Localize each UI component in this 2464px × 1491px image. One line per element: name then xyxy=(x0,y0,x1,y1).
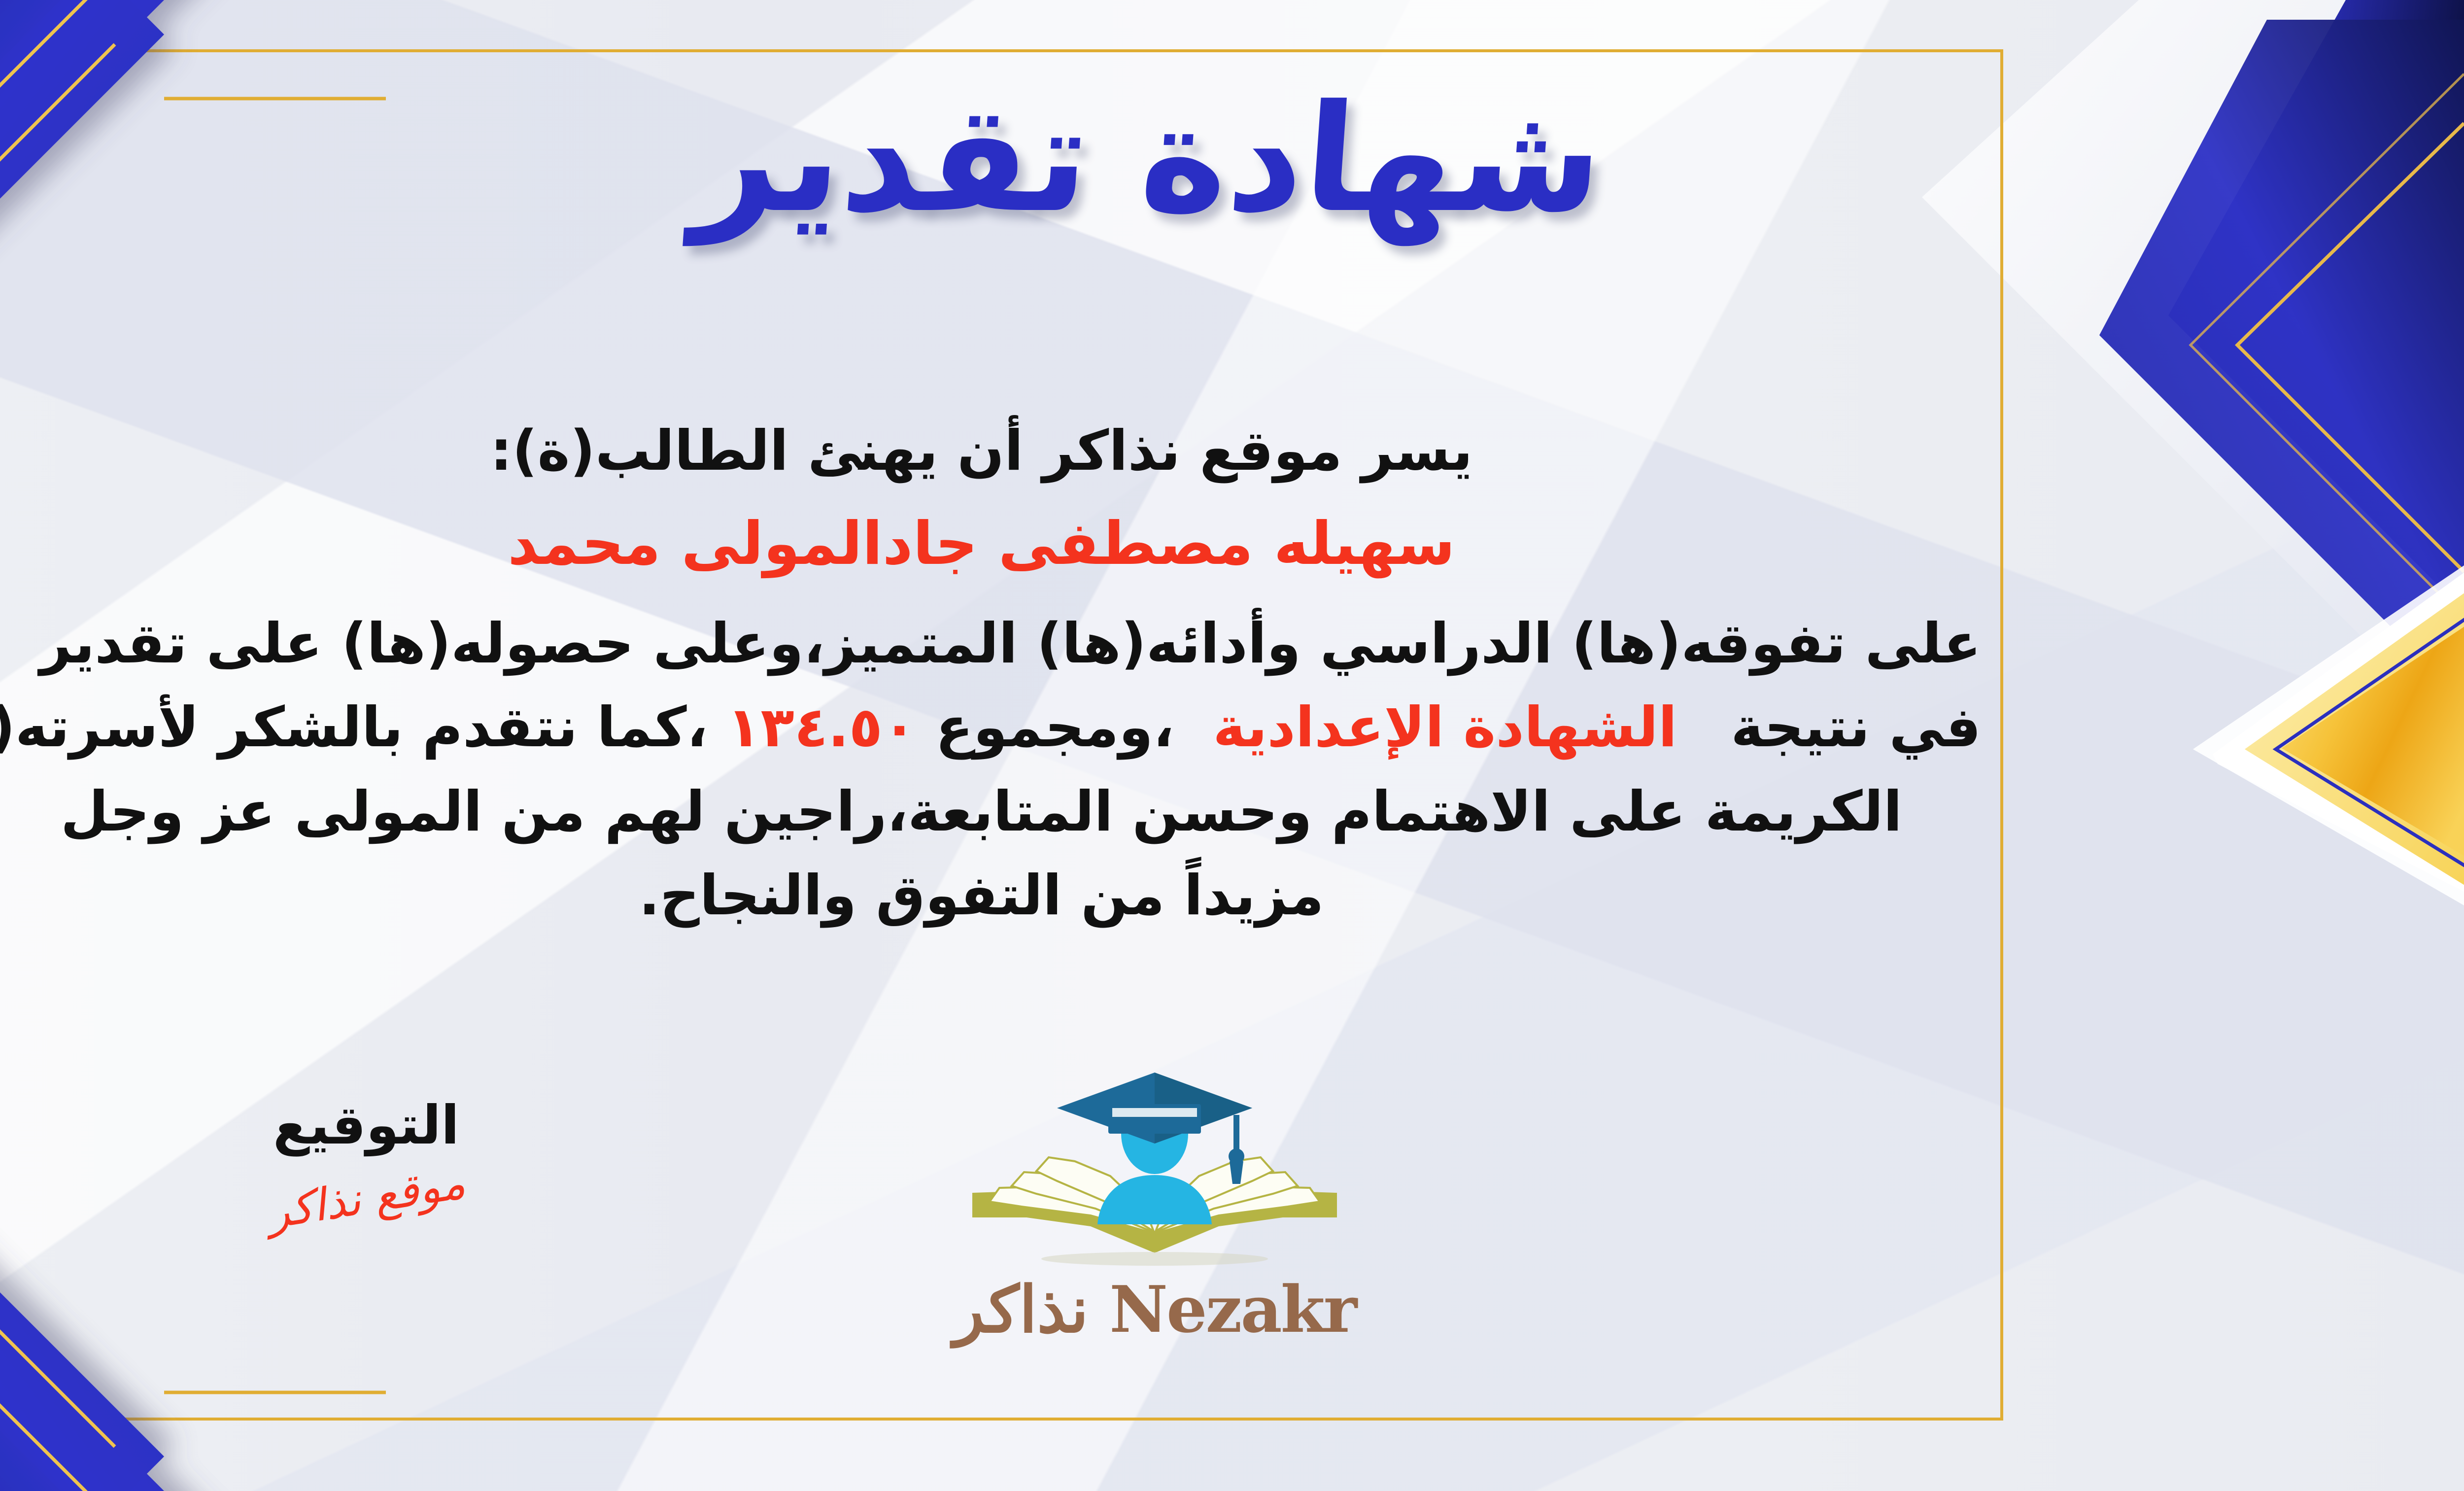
grade-value: ممتاز xyxy=(0,602,20,686)
graduation-cap-book-icon xyxy=(943,1070,1367,1282)
gold-chevron-decoration xyxy=(2139,552,2464,917)
exam-result-line: في نتيجة الشهادة الإعدادية ،ومجموع ١٣٤.٥… xyxy=(0,686,1981,769)
family-thanks-line: الكريمة على الاهتمام وحسن المتابعة،راجين… xyxy=(0,770,1981,854)
page-title: شهادة تقدير xyxy=(688,59,1610,259)
achievement-text: على تفوقه(ها) الدراسي وأدائه(ها) المتميز… xyxy=(39,612,1981,676)
achievement-line: على تفوقه(ها) الدراسي وأدائه(ها) المتميز… xyxy=(0,602,1981,686)
signature-handwriting: موقع نذاكر xyxy=(264,1157,468,1239)
certificate-title-area: شهادة تقدير xyxy=(0,59,2464,259)
signature-label: التوقيع xyxy=(208,1099,524,1152)
total-prefix: ،ومجموع xyxy=(935,695,1174,760)
certificate-footer: التوقيع موقع نذاكر xyxy=(0,1099,2464,1405)
student-name: سهيله مصطفى جادالمولى محمد xyxy=(0,510,1981,578)
thanks-prefix: ،كما نتقدم بالشكر لأسرته(ها) xyxy=(0,695,708,760)
certificate-page: شهادة تقدير يسر موقع نذاكر أن يهنئ الطال… xyxy=(0,0,2464,1491)
exam-prefix: في نتيجة xyxy=(1731,695,1981,760)
signature-block: التوقيع موقع نذاكر xyxy=(208,1099,524,1224)
intro-line: يسر موقع نذاكر أن يهنئ الطالب(ة): xyxy=(0,409,1981,493)
site-logo: Nezakr نذاكر xyxy=(943,1070,1367,1342)
exam-name: الشهادة الإعدادية xyxy=(1193,686,1711,769)
total-score: ١٣٤.٥٠ xyxy=(727,695,916,760)
logo-wordmark: Nezakr نذاكر xyxy=(943,1278,1367,1342)
closing-line: مزيداً من التفوق والنجاح. xyxy=(0,854,1981,937)
certificate-body: يسر موقع نذاكر أن يهنئ الطالب(ة): سهيله … xyxy=(0,409,1981,937)
